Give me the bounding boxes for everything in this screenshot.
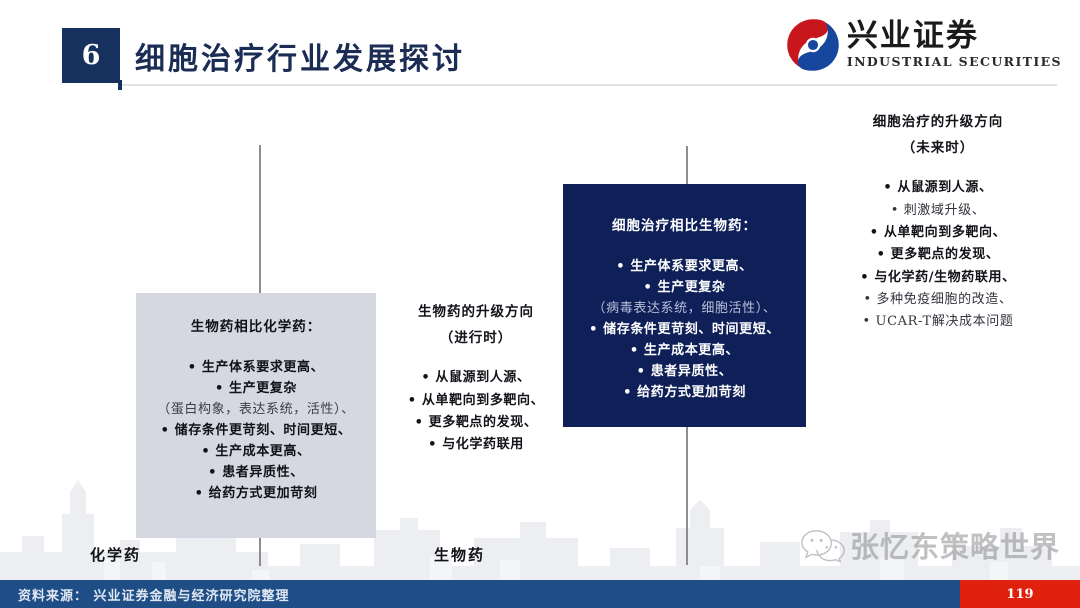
cell-therapy-box-title: 细胞治疗相比生物药： bbox=[569, 214, 800, 234]
list-item: • 生产体系要求更高、 bbox=[142, 357, 370, 378]
category-label-biologic: 生物药 bbox=[434, 544, 485, 565]
list-item: • 从单靶向到多靶向、 bbox=[388, 390, 564, 412]
connector-line-chemical-lower bbox=[259, 538, 261, 566]
watermark-text: 张忆东策略世界 bbox=[850, 524, 1060, 566]
wechat-watermark: 张忆东策略世界 bbox=[800, 524, 1060, 566]
connector-line-biologic-lower bbox=[686, 427, 688, 565]
list-item: • 与化学药联用 bbox=[388, 434, 564, 456]
cell-therapy-upgrade-column: 细胞治疗的升级方向 （未来时） • 从鼠源到人源、 • 刺激域升级、 • 从单靶… bbox=[812, 110, 1064, 334]
list-item: • 生产成本更高、 bbox=[569, 340, 800, 361]
list-item: （蛋白构象，表达系统，活性）、 bbox=[142, 399, 370, 420]
list-item: • 储存条件更苛刻、时间更短、 bbox=[569, 319, 800, 340]
cell-therapy-upgrade-title-line2: （未来时） bbox=[812, 136, 1064, 162]
connector-line-biologic bbox=[686, 146, 688, 186]
list-item: • 从鼠源到人源、 bbox=[388, 367, 564, 389]
company-logo: 兴业证券 INDUSTRIAL SECURITIES bbox=[785, 14, 1062, 76]
list-item: （病毒表达系统，细胞活性）、 bbox=[569, 298, 800, 319]
section-number-badge: 6 bbox=[62, 28, 120, 83]
wechat-icon bbox=[800, 528, 846, 562]
cell-therapy-upgrade-title-line1: 细胞治疗的升级方向 bbox=[812, 110, 1064, 136]
list-item: • 患者异质性、 bbox=[569, 361, 800, 382]
page-title: 细胞治疗行业发展探讨 bbox=[135, 34, 465, 78]
list-item: • 给药方式更加苛刻 bbox=[142, 483, 370, 504]
biologic-vs-chemical-box: 生物药相比化学药： • 生产体系要求更高、 • 生产更复杂 （蛋白构象，表达系统… bbox=[136, 293, 376, 538]
list-item: • UCAR-T解决成本问题 bbox=[812, 311, 1064, 333]
cell-therapy-box-bullets: • 生产体系要求更高、 • 生产更复杂 （病毒表达系统，细胞活性）、 • 储存条… bbox=[569, 256, 800, 403]
source-note: 资料来源： 兴业证券金融与经济研究院整理 bbox=[18, 580, 290, 608]
cell-therapy-upgrade-bullets: • 从鼠源到人源、 • 刺激域升级、 • 从单靶向到多靶向、 • 更多靶点的发现… bbox=[812, 177, 1064, 334]
list-item: • 储存条件更苛刻、时间更短、 bbox=[142, 420, 370, 441]
list-item: • 更多靶点的发现、 bbox=[812, 244, 1064, 266]
list-item: • 生产体系要求更高、 bbox=[569, 256, 800, 277]
footer-bar: 资料来源： 兴业证券金融与经济研究院整理 bbox=[0, 580, 1080, 608]
list-item: • 从单靶向到多靶向、 bbox=[812, 222, 1064, 244]
list-item: • 患者异质性、 bbox=[142, 462, 370, 483]
logo-company-name-en: INDUSTRIAL SECURITIES bbox=[847, 56, 1062, 69]
title-underline bbox=[122, 84, 1057, 86]
biologic-upgrade-bullets: • 从鼠源到人源、 • 从单靶向到多靶向、 • 更多靶点的发现、 • 与化学药联… bbox=[388, 367, 564, 456]
biologic-upgrade-column: 生物药的升级方向 （进行时） • 从鼠源到人源、 • 从单靶向到多靶向、 • 更… bbox=[388, 300, 564, 457]
category-label-chemical: 化学药 bbox=[90, 544, 141, 565]
list-item: • 与化学药/生物药联用、 bbox=[812, 267, 1064, 289]
list-item: • 给药方式更加苛刻 bbox=[569, 382, 800, 403]
logo-company-name-cn: 兴业证券 bbox=[847, 21, 979, 52]
biologic-box-title: 生物药相比化学药： bbox=[142, 315, 370, 335]
biologic-upgrade-title-line2: （进行时） bbox=[388, 326, 564, 352]
biologic-box-bullets: • 生产体系要求更高、 • 生产更复杂 （蛋白构象，表达系统，活性）、 • 储存… bbox=[142, 357, 370, 504]
swirl-logo-icon bbox=[785, 17, 841, 73]
cell-therapy-vs-biologic-box: 细胞治疗相比生物药： • 生产体系要求更高、 • 生产更复杂 （病毒表达系统，细… bbox=[563, 184, 806, 427]
slide-canvas: 6 细胞治疗行业发展探讨 兴业证券 INDUSTRIAL SECURITIES … bbox=[0, 0, 1080, 608]
title-rule-cap bbox=[118, 80, 122, 90]
list-item: • 生产成本更高、 bbox=[142, 441, 370, 462]
list-item: • 刺激域升级、 bbox=[812, 200, 1064, 222]
list-item: • 从鼠源到人源、 bbox=[812, 177, 1064, 199]
list-item: • 生产更复杂 bbox=[142, 378, 370, 399]
biologic-upgrade-title-line1: 生物药的升级方向 bbox=[388, 300, 564, 326]
list-item: • 生产更复杂 bbox=[569, 277, 800, 298]
list-item: • 多种免疫细胞的改造、 bbox=[812, 289, 1064, 311]
connector-line-chemical bbox=[259, 145, 261, 295]
list-item: • 更多靶点的发现、 bbox=[388, 412, 564, 434]
page-number: 119 bbox=[960, 580, 1080, 608]
